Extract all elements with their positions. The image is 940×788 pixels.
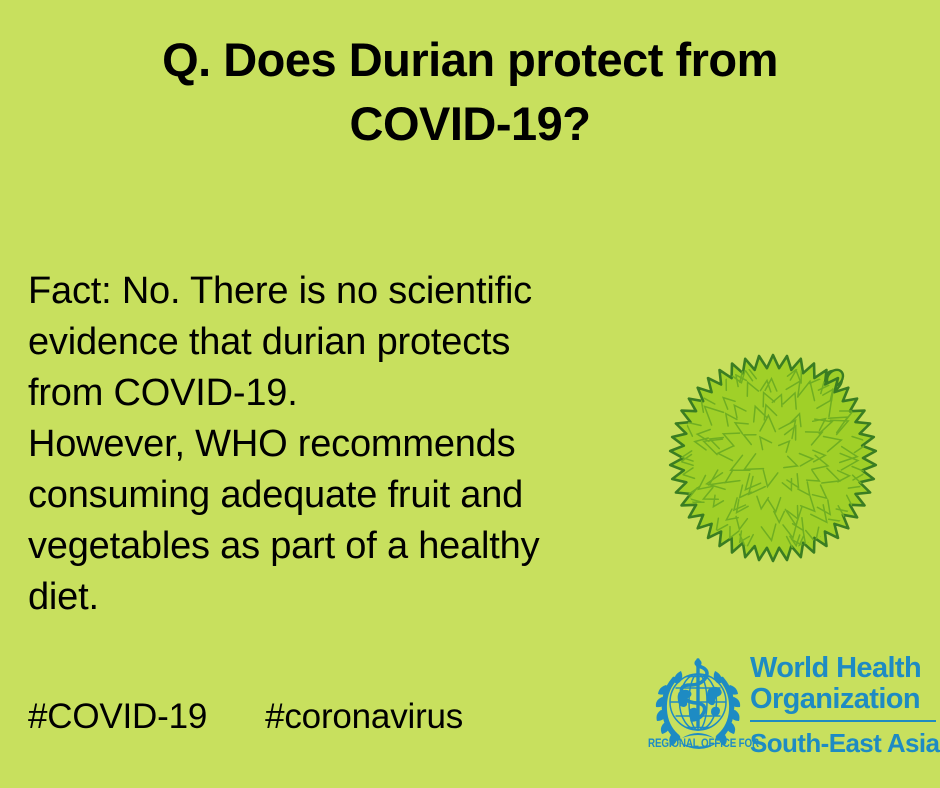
- serpent-head: [694, 659, 701, 666]
- durian-body: [670, 355, 876, 561]
- body-line-4: However, WHO recommends: [28, 419, 628, 470]
- body-line-5: consuming adequate fruit and: [28, 470, 628, 521]
- who-name: World Health Organization: [750, 653, 936, 715]
- who-office-label: REGIONAL OFFICE FOR: [648, 736, 759, 750]
- fact-body-text: Fact: No. There is no scientific evidenc…: [28, 266, 628, 623]
- who-logo: World Health Organization South-East Asi…: [648, 652, 936, 760]
- durian-fruit-illustration: [655, 318, 895, 568]
- body-line-6: vegetables as part of a healthy: [28, 521, 628, 572]
- hashtag-covid19: #COVID-19: [28, 697, 207, 736]
- infographic-card: Q. Does Durian protect from COVID-19? Fa…: [0, 0, 940, 788]
- who-region-name: South-East Asia: [750, 728, 939, 759]
- who-name-line-1: World Health: [750, 653, 936, 684]
- body-line-2: evidence that durian protects: [28, 317, 628, 368]
- body-line-1: Fact: No. There is no scientific: [28, 266, 628, 317]
- who-divider: [750, 720, 936, 722]
- laurel-left: [656, 671, 682, 746]
- headline-line-2: COVID-19?: [0, 92, 940, 156]
- body-line-3: from COVID-19.: [28, 368, 628, 419]
- headline-line-1: Q. Does Durian protect from: [0, 28, 940, 92]
- who-name-line-2: Organization: [750, 684, 936, 715]
- body-line-7: diet.: [28, 572, 628, 623]
- who-wordmark: World Health Organization South-East Asi…: [748, 652, 936, 760]
- hashtag-coronavirus: #coronavirus: [265, 697, 463, 736]
- page-title: Q. Does Durian protect from COVID-19?: [0, 28, 940, 156]
- hashtag-row: #COVID-19#coronavirus: [28, 697, 463, 737]
